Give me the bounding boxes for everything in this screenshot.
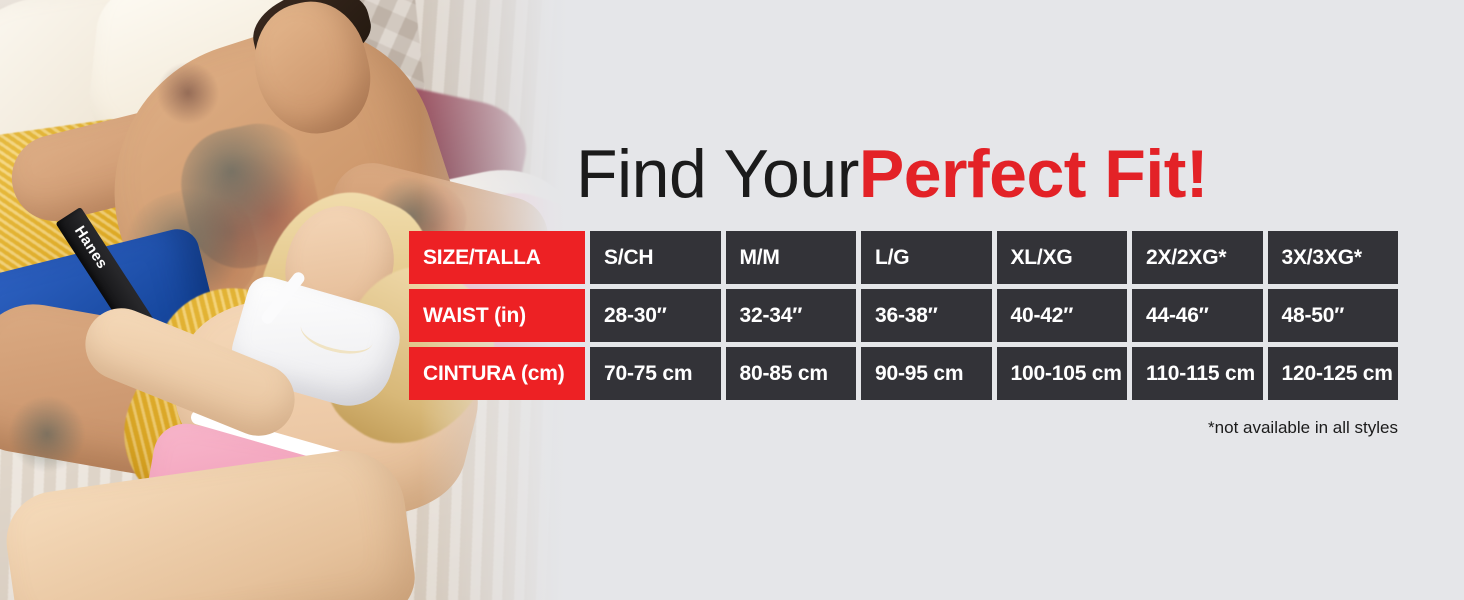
cell-size-m: M/M — [726, 231, 857, 284]
cell-waist-3x: 48-50″ — [1268, 289, 1399, 342]
cell-waist-s: 28-30″ — [590, 289, 721, 342]
cell-size-2x: 2X/2XG* — [1132, 231, 1263, 284]
table-row: CINTURA (cm) 70-75 cm 80-85 cm 90-95 cm … — [409, 347, 1398, 400]
cell-cintura-m: 80-85 cm — [726, 347, 857, 400]
row-label-size: SIZE/TALLA — [409, 231, 585, 284]
cell-size-3x: 3X/3XG* — [1268, 231, 1399, 284]
page-title: Find YourPerfect Fit! — [576, 140, 1208, 208]
headline-bold-part: Perfect Fit! — [859, 136, 1208, 212]
cell-waist-m: 32-34″ — [726, 289, 857, 342]
row-label-waist-in: WAIST (in) — [409, 289, 585, 342]
row-label-cintura-cm: CINTURA (cm) — [409, 347, 585, 400]
cell-waist-2x: 44-46″ — [1132, 289, 1263, 342]
cell-cintura-l: 90-95 cm — [861, 347, 992, 400]
cell-size-s: S/CH — [590, 231, 721, 284]
size-chart-banner: Hanes Find YourPerfect Fit! SIZE/TALLA S… — [0, 0, 1464, 600]
headline-light-part: Find Your — [576, 136, 859, 212]
cell-cintura-s: 70-75 cm — [590, 347, 721, 400]
cell-waist-l: 36-38″ — [861, 289, 992, 342]
cell-cintura-xl: 100-105 cm — [997, 347, 1128, 400]
cell-cintura-2x: 110-115 cm — [1132, 347, 1263, 400]
cell-cintura-3x: 120-125 cm — [1268, 347, 1399, 400]
table-row: SIZE/TALLA S/CH M/M L/G XL/XG 2X/2XG* 3X… — [409, 231, 1398, 284]
size-chart-table: SIZE/TALLA S/CH M/M L/G XL/XG 2X/2XG* 3X… — [409, 231, 1398, 400]
table-row: WAIST (in) 28-30″ 32-34″ 36-38″ 40-42″ 4… — [409, 289, 1398, 342]
footnote-disclaimer: *not available in all styles — [1208, 418, 1398, 438]
cell-size-xl: XL/XG — [997, 231, 1128, 284]
cell-waist-xl: 40-42″ — [997, 289, 1128, 342]
cell-size-l: L/G — [861, 231, 992, 284]
